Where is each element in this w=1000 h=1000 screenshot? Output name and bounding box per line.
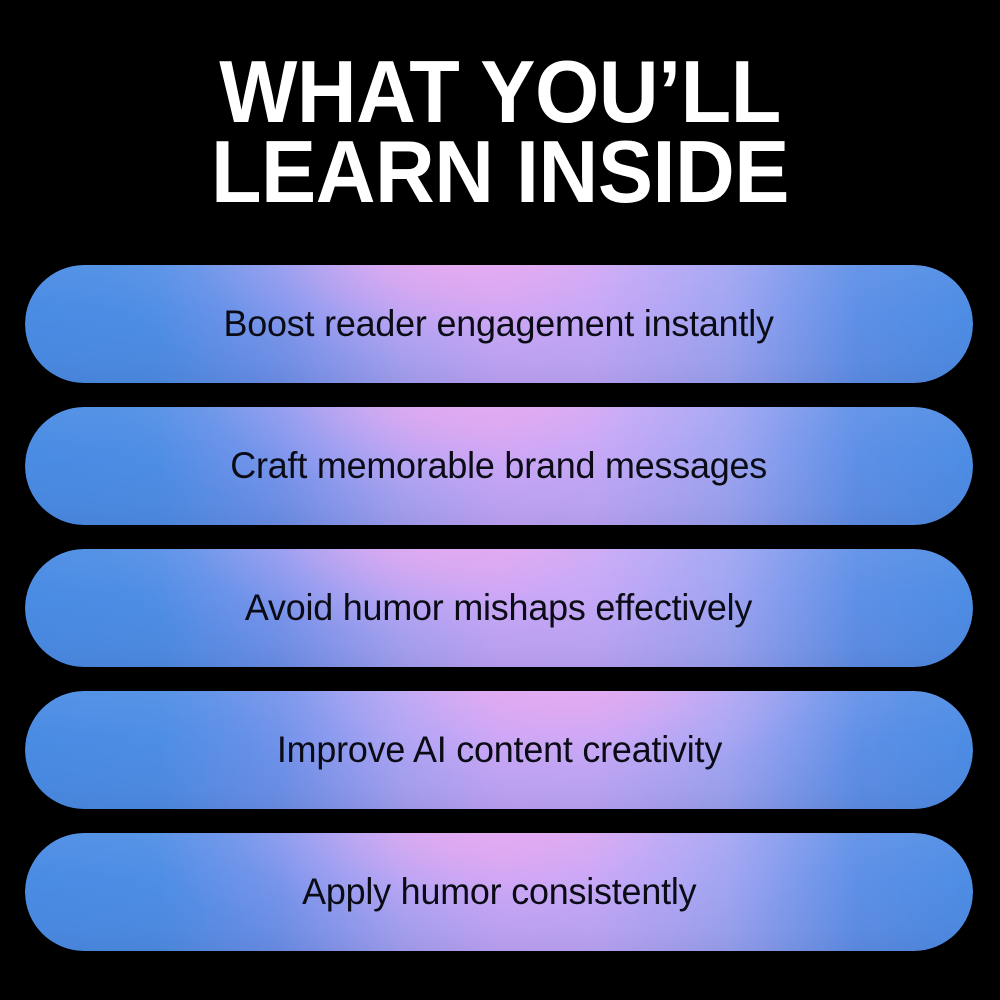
list-item-5[interactable]: Apply humor consistently bbox=[25, 833, 973, 951]
benefits-list: Boost reader engagement instantly Craft … bbox=[25, 265, 973, 951]
page-title-line-1: WHAT YOU’LL bbox=[30, 52, 970, 132]
list-item-label: Avoid humor mishaps effectively bbox=[245, 549, 752, 667]
page-title-line-2: LEARN INSIDE bbox=[30, 132, 970, 212]
list-item-label: Apply humor consistently bbox=[302, 833, 696, 951]
list-item-1[interactable]: Boost reader engagement instantly bbox=[25, 265, 973, 383]
page-title: WHAT YOU’LL LEARN INSIDE bbox=[0, 52, 1000, 212]
list-item-label: Improve AI content creativity bbox=[276, 691, 721, 809]
slide-canvas: WHAT YOU’LL LEARN INSIDE Boost reader en… bbox=[0, 0, 1000, 1000]
list-item-label: Craft memorable brand messages bbox=[231, 407, 768, 525]
list-item-2[interactable]: Craft memorable brand messages bbox=[25, 407, 973, 525]
list-item-4[interactable]: Improve AI content creativity bbox=[25, 691, 973, 809]
list-item-3[interactable]: Avoid humor mishaps effectively bbox=[25, 549, 973, 667]
list-item-label: Boost reader engagement instantly bbox=[224, 265, 774, 383]
